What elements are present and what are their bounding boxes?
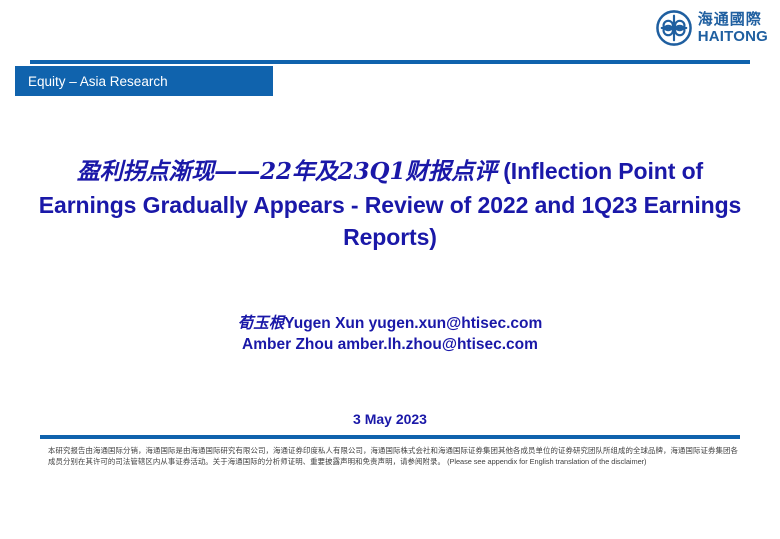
page-title: 盈利拐点渐现——22年及23Q1财报点评 (Inflection Point o… [36,155,744,254]
title-chinese: 盈利拐点渐现——22年及23Q1财报点评 [77,158,497,185]
publication-date: 3 May 2023 [0,411,780,427]
logo-wordmark: 海通國際 HAITONG [698,12,768,44]
haitong-logo: 海通國際 HAITONG [656,10,768,46]
haitong-circular-emblem-icon [656,10,692,46]
disclaimer-text: 本研究报告由海通国际分销，海通国际是由海通国际研究有限公司，海通证券印度私人有限… [48,445,738,468]
equity-asia-research-banner: Equity – Asia Research [15,66,273,96]
author-name-and-email: Yugen Xun yugen.xun@htisec.com [284,315,542,332]
author-line-secondary: Amber Zhou amber.lh.zhou@htisec.com [36,335,744,356]
disclaimer-english: (Please see appendix for English transla… [447,457,646,466]
author-line-primary: 荀玉根Yugen Xun yugen.xun@htisec.com [36,313,744,335]
logo-chinese-name: 海通國際 [698,12,768,27]
author-chinese-name: 荀玉根 [238,313,285,332]
top-divider-rule [30,60,750,64]
logo-english-name: HAITONG [698,29,768,44]
equity-banner-label: Equity – Asia Research [28,74,168,89]
title-slide: 海通國際 HAITONG Equity – Asia Research 盈利拐点… [0,0,780,539]
authors-block: 荀玉根Yugen Xun yugen.xun@htisec.com Amber … [36,313,744,356]
bottom-divider-rule [40,435,740,439]
